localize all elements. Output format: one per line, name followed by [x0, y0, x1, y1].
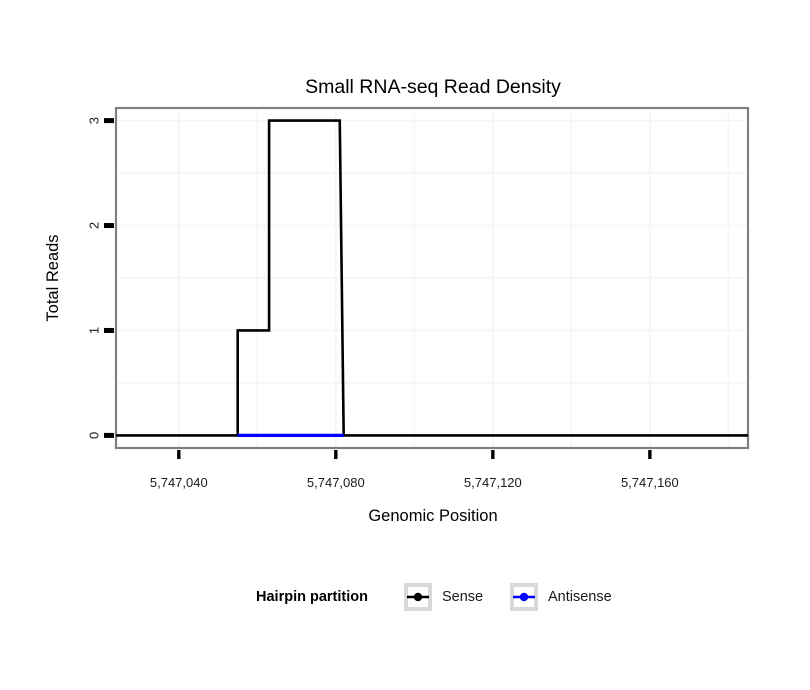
x-axis-title: Genomic Position	[368, 507, 497, 525]
y-tick-label: 2	[87, 222, 102, 229]
page-title: Small RNA-seq Read Density	[305, 76, 561, 98]
x-tick-label: 5,747,120	[464, 475, 522, 490]
legend-key-point	[414, 593, 422, 601]
x-tick-label: 5,747,160	[621, 475, 679, 490]
x-tick-label: 5,747,040	[150, 475, 208, 490]
y-tick-label: 0	[87, 432, 102, 439]
plot-panel	[116, 108, 748, 448]
x-tick-label: 5,747,080	[307, 475, 365, 490]
y-axis-title: Total Reads	[44, 234, 62, 321]
read-density-chart: Small RNA-seq Read Density 5,747,0405,74…	[0, 0, 810, 690]
legend-item-label: Antisense	[548, 589, 612, 605]
chart-container: Small RNA-seq Read Density 5,747,0405,74…	[0, 0, 810, 690]
y-tick-label: 1	[87, 327, 102, 334]
legend-item-label: Sense	[442, 589, 483, 605]
legend-title: Hairpin partition	[256, 589, 368, 605]
y-tick-label: 3	[87, 117, 102, 124]
legend-key-point	[520, 593, 528, 601]
